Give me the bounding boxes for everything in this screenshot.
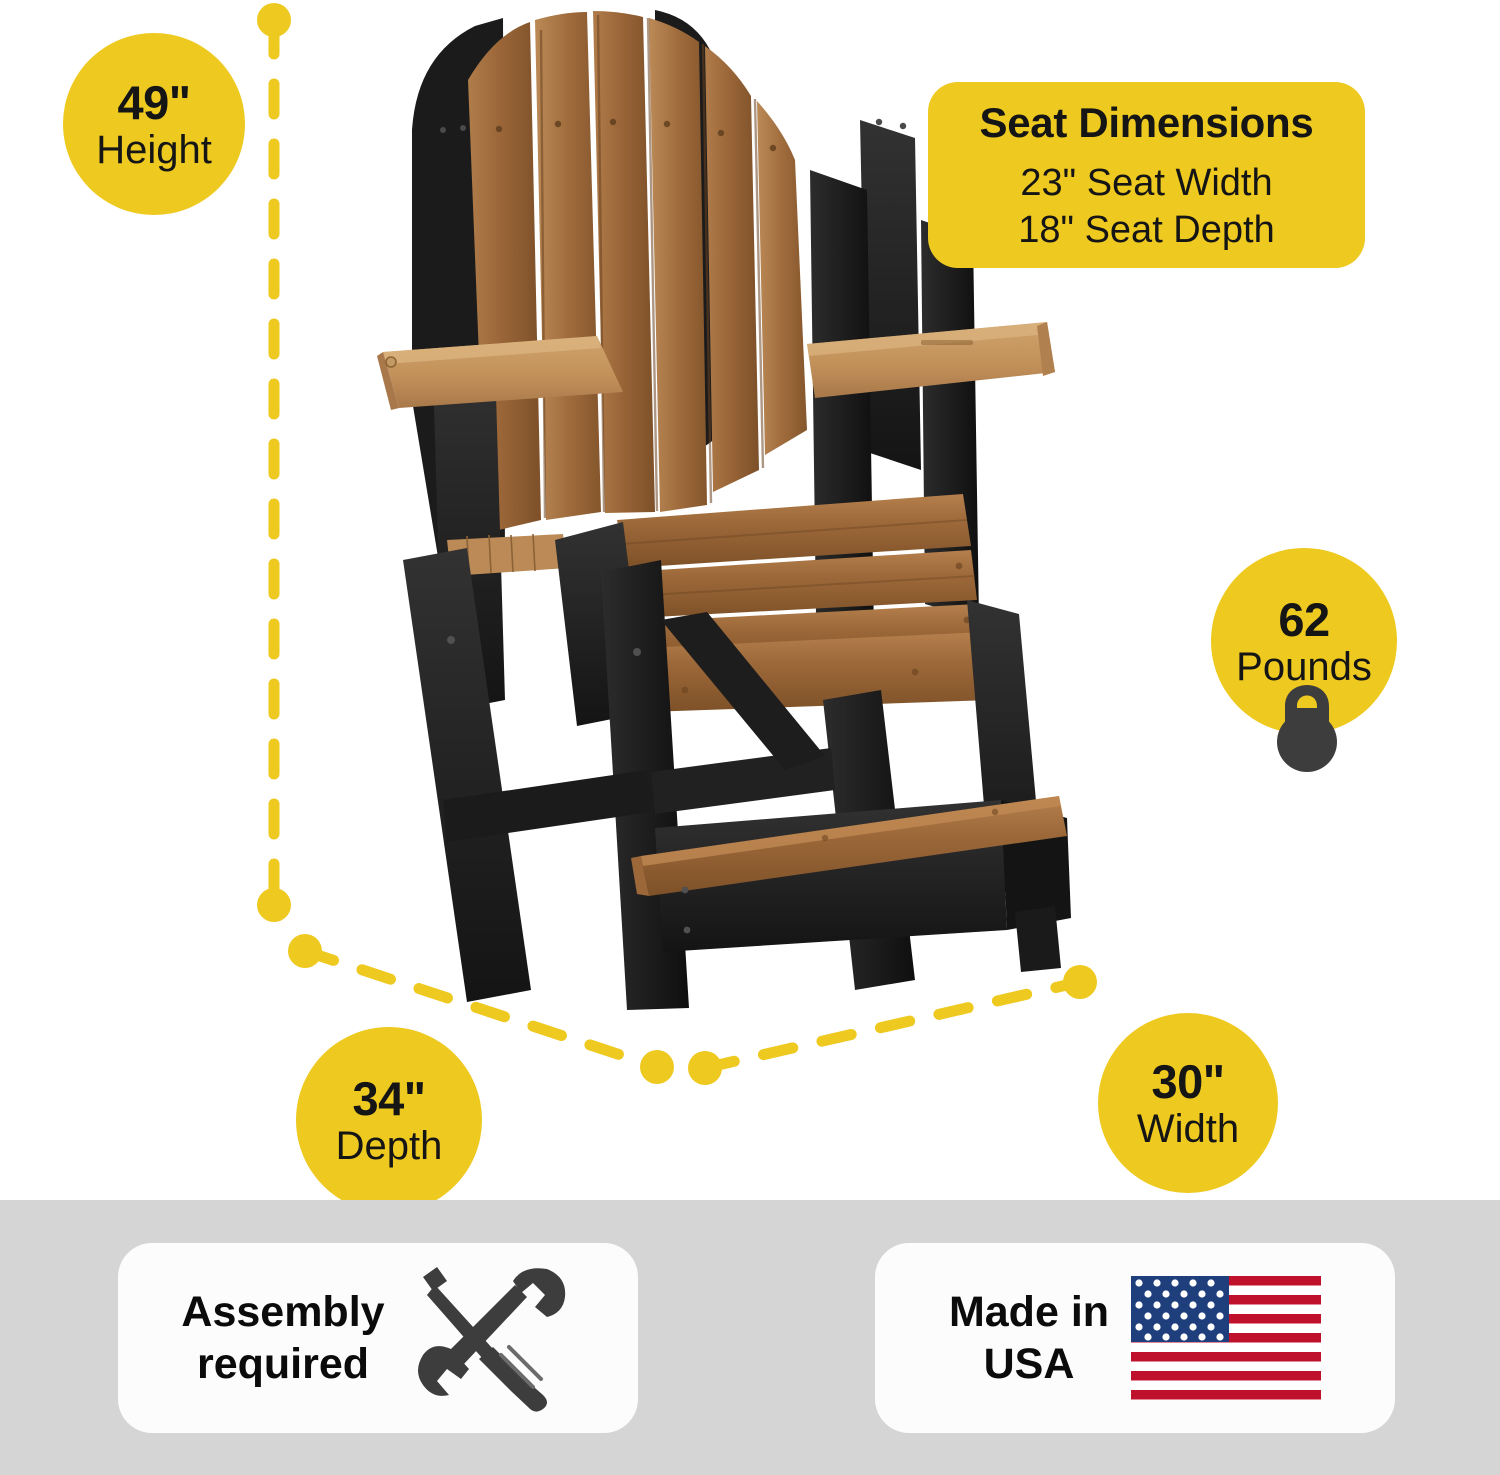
width-badge-label: Width <box>1137 1109 1239 1149</box>
made-in-usa-badge: Made in USA <box>875 1243 1395 1433</box>
wrench-screwdriver-icon <box>407 1263 575 1413</box>
kettlebell-icon <box>1255 662 1359 772</box>
weight-badge-value: 62 <box>1278 596 1329 643</box>
footer-band: Assembly required <box>0 1200 1500 1475</box>
depth-line-dot-left <box>288 934 322 968</box>
usa-flag-icon <box>1131 1276 1321 1400</box>
assembly-required-text: Assembly required <box>181 1286 384 1391</box>
height-line-dot-top <box>257 3 291 37</box>
depth-badge-value: 34" <box>352 1075 425 1122</box>
usa-line-1: Made in <box>949 1286 1109 1338</box>
width-badge: 30" Width <box>1098 1013 1278 1193</box>
depth-line-dot-right <box>640 1050 674 1084</box>
assembly-line-1: Assembly <box>181 1286 384 1338</box>
height-badge: 49" Height <box>63 33 245 215</box>
assembly-line-2: required <box>181 1338 384 1390</box>
seat-dimensions-title: Seat Dimensions <box>980 99 1314 147</box>
usa-flag-wrap <box>1131 1276 1321 1400</box>
made-in-usa-text: Made in USA <box>949 1286 1109 1391</box>
width-badge-value: 30" <box>1151 1058 1224 1105</box>
height-badge-label: Height <box>96 130 212 170</box>
product-infographic: 49" Height 62 Pounds 34" Depth 30" Width… <box>0 0 1500 1475</box>
seat-width-text: 23" Seat Width <box>1020 162 1272 205</box>
usa-line-2: USA <box>949 1338 1109 1390</box>
height-line-dot-bottom <box>257 888 291 922</box>
assembly-required-badge: Assembly required <box>118 1243 638 1433</box>
assembly-icon-wrap <box>407 1263 575 1413</box>
height-badge-value: 49" <box>117 79 190 126</box>
seat-depth-text: 18" Seat Depth <box>1018 209 1274 252</box>
product-image-area: 49" Height 62 Pounds 34" Depth 30" Width… <box>0 0 1500 1200</box>
width-line-dot-left <box>688 1051 722 1085</box>
seat-dimensions-panel: Seat Dimensions 23" Seat Width 18" Seat … <box>928 82 1365 268</box>
depth-badge-label: Depth <box>336 1126 443 1166</box>
depth-badge: 34" Depth <box>296 1027 482 1213</box>
width-line-dot-right <box>1063 965 1097 999</box>
